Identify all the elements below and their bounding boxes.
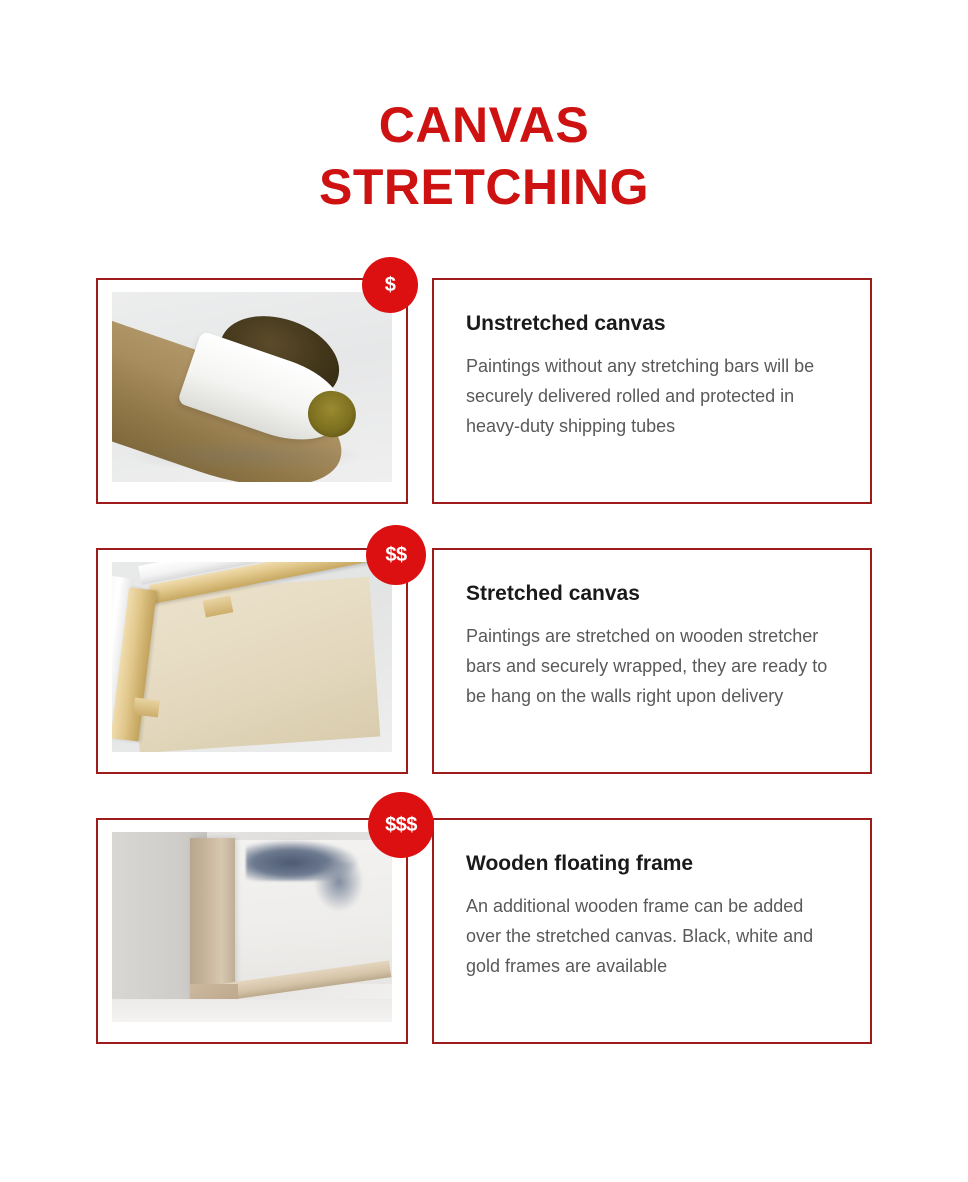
option-heading-2: Stretched canvas (466, 580, 840, 607)
canvas-back-shape (129, 577, 380, 752)
option-description-3: An additional wooden frame can be added … (466, 891, 840, 981)
rolled-canvas-in-shipping-tube-photo (112, 292, 392, 482)
option-description-2: Paintings are stretched on wooden stretc… (466, 621, 840, 711)
page-title-line-2: STRETCHING (0, 156, 968, 218)
stretched-canvas-wooden-stretcher-bars-photo (112, 562, 392, 752)
option-image-card-2: $$ (96, 548, 408, 774)
option-text-card-2: Stretched canvas Paintings are stretched… (432, 548, 872, 774)
option-heading-1: Unstretched canvas (466, 310, 840, 337)
option-row-wooden-floating-frame: $$$ Wooden floating frame An additional … (96, 818, 872, 1044)
option-row-unstretched-canvas: $ Unstretched canvas Paintings without a… (96, 278, 872, 504)
page-title: CANVAS STRETCHING (0, 94, 968, 218)
option-image-card-1: $ (96, 278, 408, 504)
option-text-card-1: Unstretched canvas Paintings without any… (432, 278, 872, 504)
page-title-line-1: CANVAS (0, 94, 968, 156)
option-image-card-3: $$$ (96, 818, 408, 1044)
price-badge-3: $$$ (368, 792, 434, 858)
floor-surface-shape (112, 999, 392, 1022)
price-badge-2: $$ (366, 525, 426, 585)
canvas-stretching-infographic: CANVAS STRETCHING $ Unstretched canvas P… (0, 0, 968, 1182)
photo-shadow (129, 440, 364, 470)
option-description-1: Paintings without any stretching bars wi… (466, 351, 840, 441)
option-heading-3: Wooden floating frame (466, 850, 840, 877)
frame-side-edge-shape (190, 838, 235, 1005)
options-list: $ Unstretched canvas Paintings without a… (96, 278, 872, 1044)
artwork-ink-blot-2 (314, 862, 364, 911)
option-row-stretched-canvas: $$ Stretched canvas Paintings are stretc… (96, 548, 872, 774)
stretcher-wedge-2-shape (133, 697, 160, 717)
price-badge-1: $ (362, 257, 418, 313)
wooden-floating-frame-corner-photo (112, 832, 392, 1022)
option-text-card-3: Wooden floating frame An additional wood… (432, 818, 872, 1044)
